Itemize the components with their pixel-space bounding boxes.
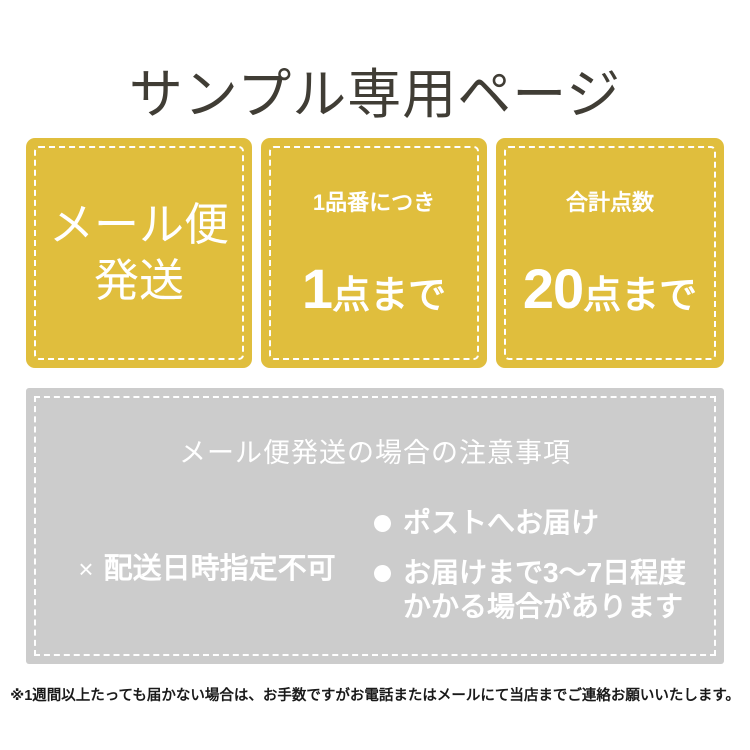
sample-shipping-banner: サンプル専用ページ メール便 発送 1品番につき 1点まで 合計点数 20点まで… [0,0,750,750]
bullet-line2: かかる場合があります [403,590,686,624]
notice-heading: メール便発送の場合の注意事項 [26,436,724,470]
bullet-text: ポストへお届け [403,506,599,540]
card-mail-shipping-content: メール便 発送 [26,197,252,309]
bullet-text: お届けまで3〜7日程度かかる場合があります [403,556,686,624]
list-item: お届けまで3〜7日程度かかる場合があります [374,556,724,624]
notice-left-column: ×配送日時指定不可 [26,504,374,634]
card-per-item-limit-value: 1点まで [261,261,487,317]
card-per-item-limit-caption: 1品番につき [261,189,487,217]
card-per-item-limit-unit: 点まで [332,275,446,317]
cross-mark-icon: × [78,554,93,584]
card-per-item-limit: 1品番につき 1点まで [261,138,487,368]
notice-body: ×配送日時指定不可 ポストへお届け お届けまで3〜7日程度かかる場合があります [26,504,724,654]
notice-right-column: ポストへお届け お届けまで3〜7日程度かかる場合があります [374,504,724,624]
list-item: ポストへお届け [374,506,724,540]
card-per-item-limit-number: 1 [302,257,332,320]
bullet-line1: お届けまで3〜7日程度 [403,557,686,588]
card-total-limit: 合計点数 20点まで [496,138,724,368]
card-per-item-limit-content: 1品番につき 1点まで [261,189,487,317]
card-mail-shipping: メール便 発送 [26,138,252,368]
shipping-condition-cards: メール便 発送 1品番につき 1点まで 合計点数 20点まで [26,138,724,368]
card-total-limit-number: 20 [523,257,583,320]
no-delivery-datetime-label: 配送日時指定不可 [104,553,336,585]
card-total-limit-content: 合計点数 20点まで [496,189,724,317]
bullet-dot-icon [374,515,391,532]
card-total-limit-unit: 点まで [583,275,697,317]
card-mail-shipping-line2: 発送 [26,253,252,309]
footnote: ※1週間以上たっても届かない場合は、お手数ですがお電話またはメールにて当店までご… [0,686,750,706]
card-total-limit-value: 20点まで [496,261,724,317]
card-mail-shipping-line1: メール便 [26,197,252,253]
card-total-limit-caption: 合計点数 [496,189,724,217]
bullet-line1: ポストへお届け [403,507,599,538]
no-delivery-datetime-item: ×配送日時指定不可 [78,551,335,587]
bullet-dot-icon [374,565,391,582]
page-title: サンプル専用ページ [0,64,750,126]
mail-shipping-notice-panel: メール便発送の場合の注意事項 ×配送日時指定不可 ポストへお届け お届けまで3〜… [26,388,724,664]
